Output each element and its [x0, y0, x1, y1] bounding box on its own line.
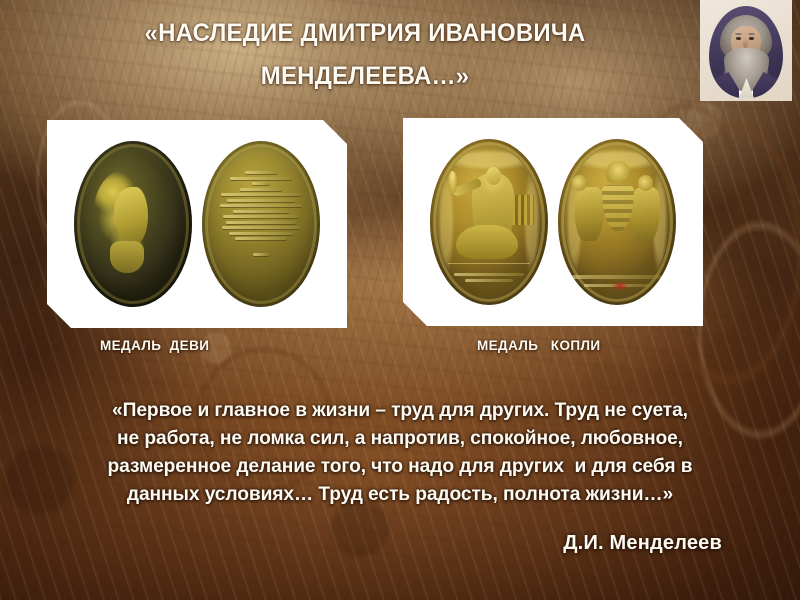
- exergue-line: [465, 279, 513, 282]
- inscription-line: [221, 193, 300, 196]
- medal-architecture: [512, 195, 534, 225]
- quote-author: Д.И. Менделеев: [563, 532, 722, 555]
- inscription-line: [229, 232, 293, 235]
- inscription-line: [222, 226, 299, 229]
- medal-card-devy: [47, 120, 347, 328]
- portrait-brow-right: [748, 33, 755, 35]
- medal-lion-head: [572, 175, 587, 191]
- portrait-oval-frame: [709, 6, 783, 98]
- medal-red-mark: [612, 281, 628, 291]
- inscription-line: [233, 210, 290, 213]
- medal-figure-head: [486, 167, 501, 185]
- inscription-line: [235, 237, 287, 240]
- quote-line-1: «Первое и главное в жизни – труд для дру…: [36, 396, 765, 424]
- medal-lion-supporter: [574, 187, 604, 241]
- exergue-line: [454, 273, 525, 276]
- medal-unicorn-supporter: [630, 187, 660, 241]
- medal-unicorn-head: [638, 175, 653, 191]
- medal-crown: [606, 161, 630, 183]
- quote-line-3: размеренное делание того, что надо для д…: [36, 452, 765, 480]
- medal-inscription-block: [218, 167, 304, 285]
- slide-title: «НАСЛЕДИЕ ДМИТРИЯ ИВАНОВИЧА МЕНДЕЛЕЕВА…»: [53, 12, 677, 98]
- portrait-eye-right: [749, 37, 754, 40]
- medal-exergue: [448, 263, 530, 291]
- inscription-date: [253, 253, 268, 256]
- inscription-line: [252, 182, 271, 185]
- inscription-line: [240, 188, 281, 191]
- quote-line-2: не работа, не ломка сил, а напротив, спо…: [36, 424, 765, 452]
- medal-devy-reverse: [202, 141, 320, 307]
- portrait-mendeleev: [700, 0, 792, 101]
- caption-medal-copley: МЕДАЛЬ КОПЛИ: [477, 338, 600, 353]
- inscription-line: [227, 199, 294, 202]
- portrait-nose: [743, 39, 748, 48]
- inscription-line: [223, 215, 299, 218]
- inscription-line: [230, 177, 292, 180]
- caption-medal-devy: МЕДАЛЬ ДЕВИ: [100, 338, 209, 353]
- medal-drapery: [456, 225, 518, 259]
- inscription-line: [245, 171, 278, 174]
- medal-card-copley-inner: [413, 128, 693, 316]
- medal-torch: [448, 171, 457, 193]
- portrait-brow-left: [735, 33, 742, 35]
- medal-bust-neck: [110, 241, 144, 273]
- portrait-eye-left: [736, 37, 741, 40]
- medal-card-devy-inner: [57, 130, 337, 318]
- medal-devy-obverse: [74, 141, 192, 307]
- inscription-line: [226, 221, 297, 224]
- quote-line-4: данных условиях… Труд есть радость, полн…: [36, 480, 765, 508]
- medal-card-copley: [403, 118, 703, 326]
- inscription-line: [220, 204, 303, 207]
- medal-copley-obverse: [430, 139, 548, 305]
- presentation-slide: «НАСЛЕДИЕ ДМИТРИЯ ИВАНОВИЧА МЕНДЕЛЕЕВА…»: [0, 0, 800, 600]
- medal-copley-reverse: [558, 139, 676, 305]
- quote-block: «Первое и главное в жизни – труд для дру…: [36, 396, 765, 508]
